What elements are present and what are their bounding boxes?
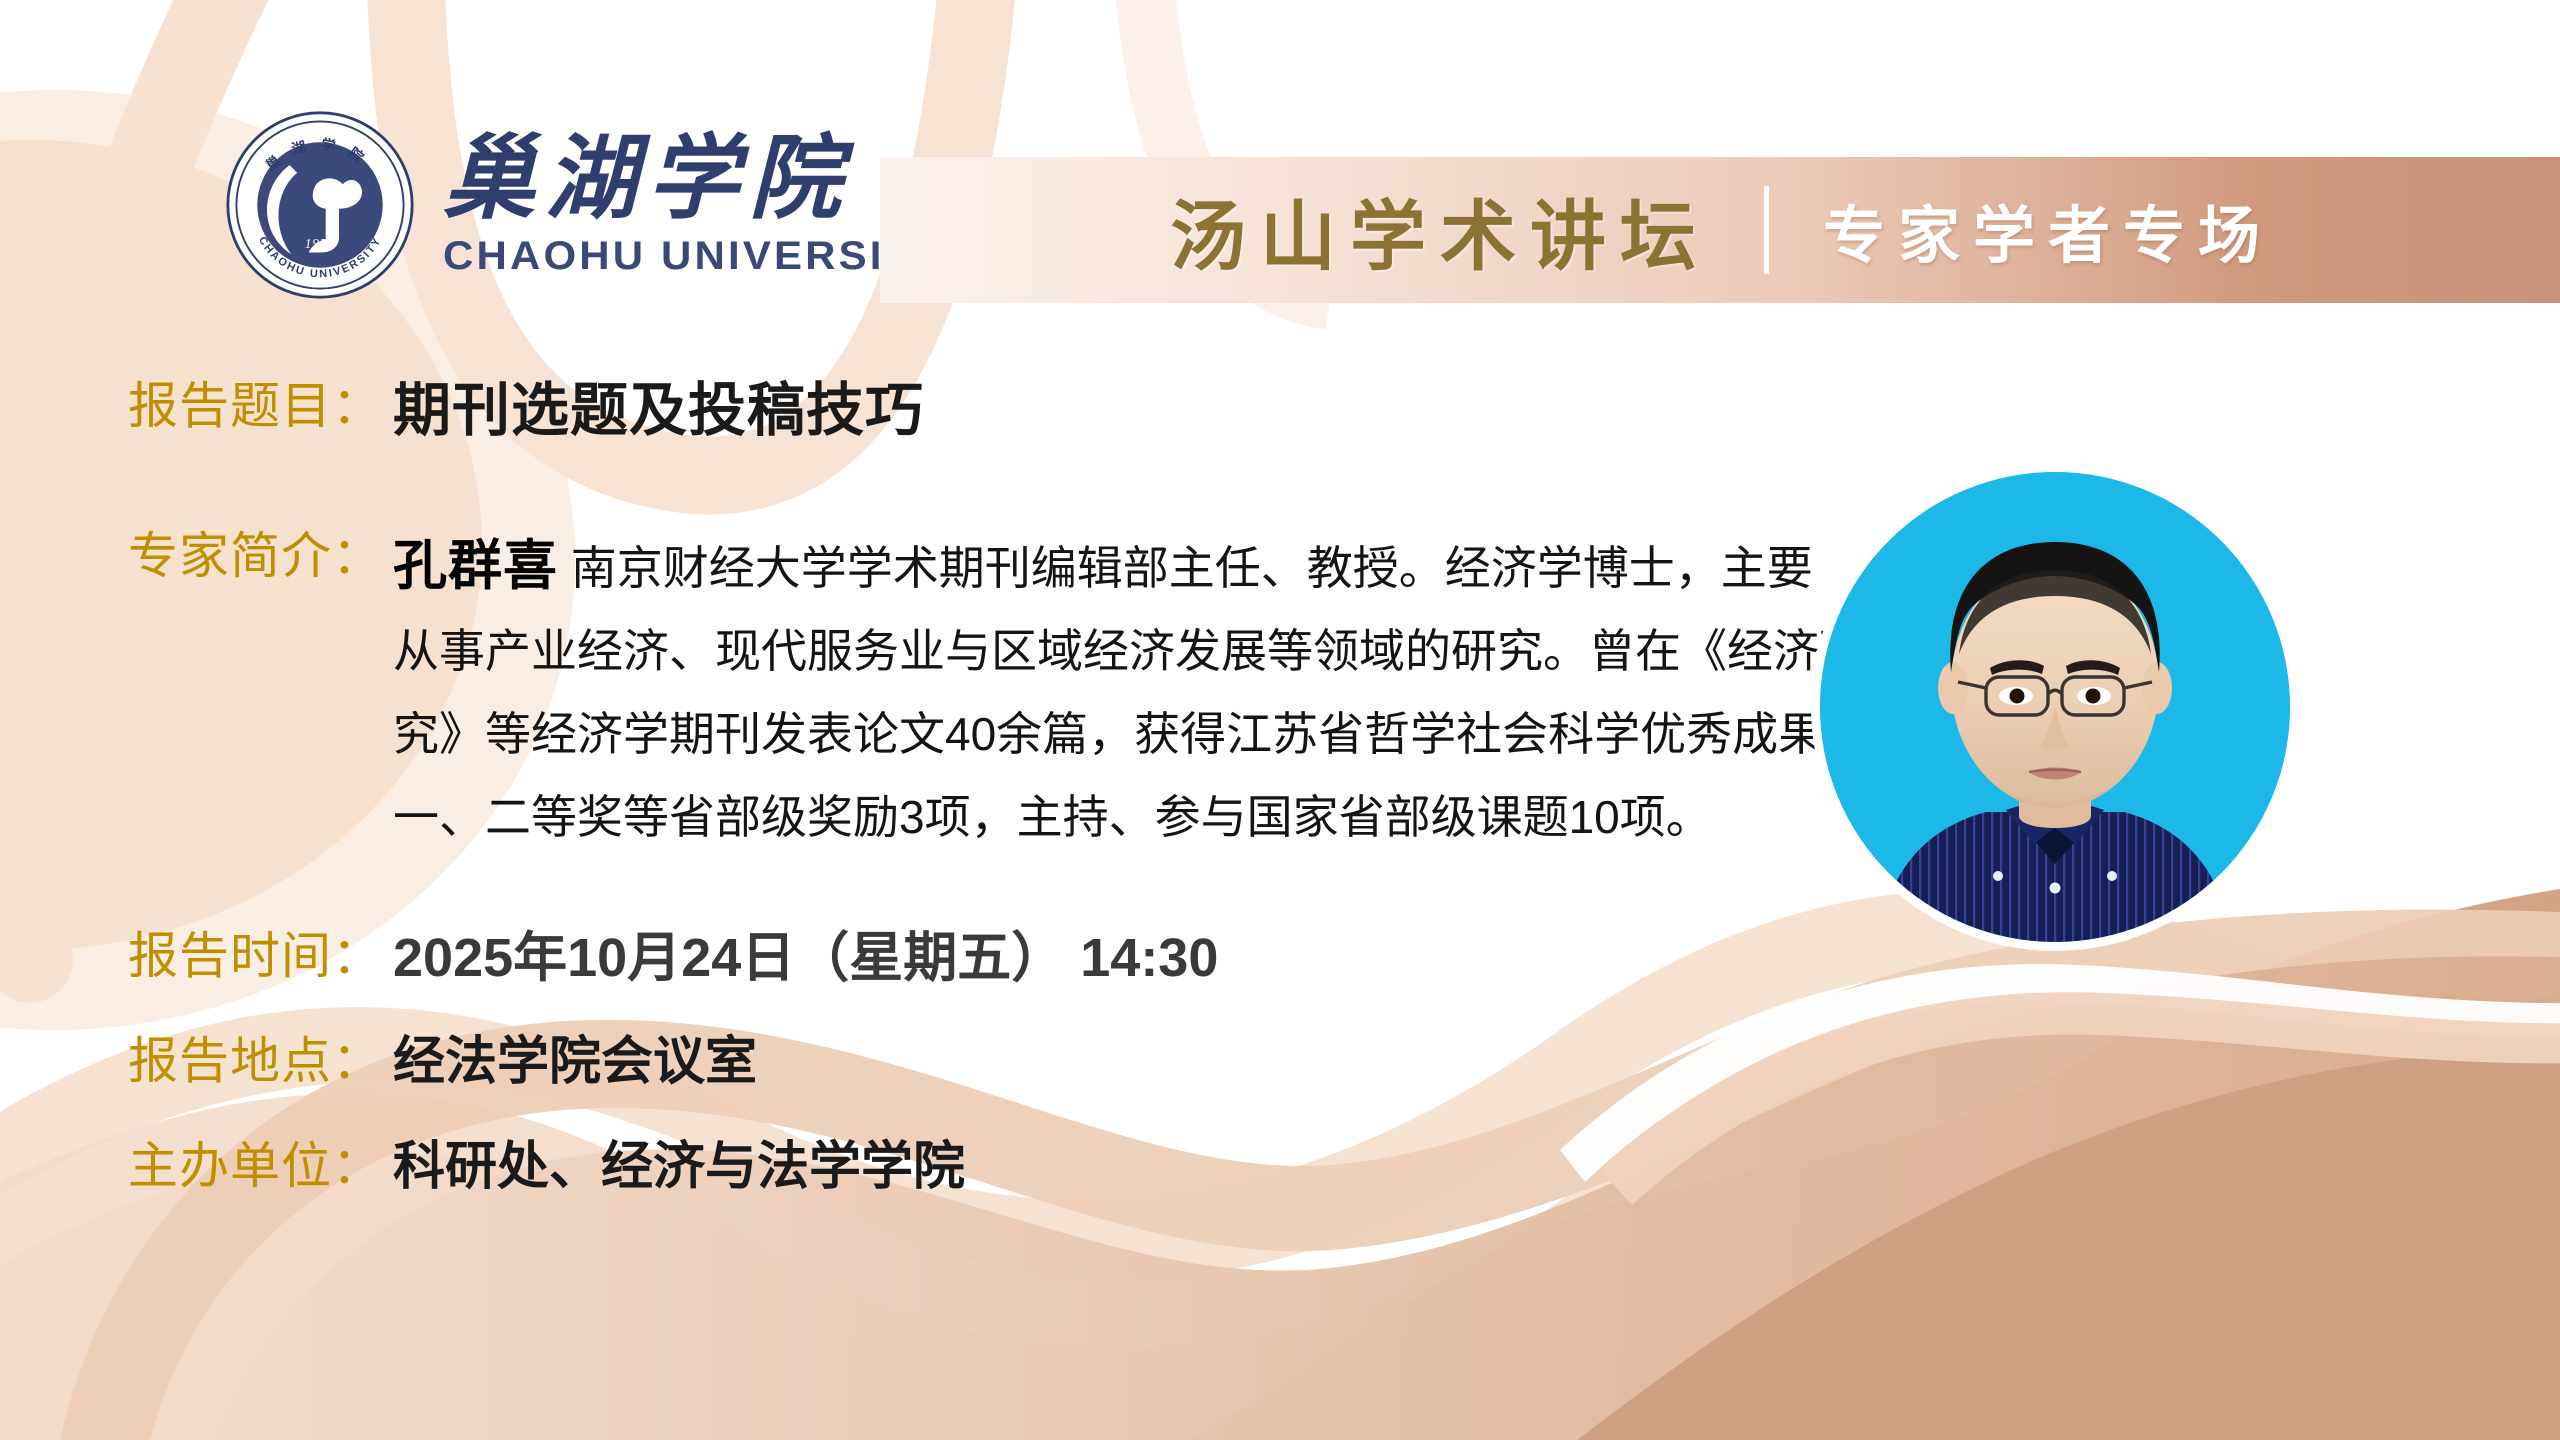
svg-text:1977: 1977 [305,236,336,251]
forum-title: 汤山学术讲坛 [1170,175,1710,285]
report-title-label: 报告题目： [128,375,383,438]
chaohu-university-emblem-icon: 1977 巢湖学院 CHAOHU UNIVERSITY [225,110,415,300]
speaker-portrait [1820,472,2290,942]
speaker-bio-line-3: 究》等经济学期刊发表论文40余篇，获得江苏省哲学社会科学优秀成果 [393,693,1865,776]
forum-banner: 汤山学术讲坛 专家学者专场 [880,157,2560,303]
report-time-row: 报告时间： 2025年10月24日（星期五） 14:30 [128,925,1218,993]
banner-divider [1764,186,1769,274]
report-title-row: 报告题目： 期刊选题及投稿技巧 [128,375,924,448]
university-wordmark: 巢湖学院 CHAOHU UNIVERSITY [443,131,921,279]
report-organizer-row: 主办单位： 科研处、经济与法学学院 [128,1135,965,1200]
report-place-label: 报告地点： [128,1030,383,1093]
forum-subtitle: 专家学者专场 [1823,185,2273,275]
seminar-poster: 1977 巢湖学院 CHAOHU UNIVERSITY 巢湖学院 CHAOHU … [0,0,2560,1440]
speaker-bio-label: 专家简介： [128,525,383,588]
report-organizer-value: 科研处、经济与法学学院 [393,1135,965,1200]
report-time-value: 2025年10月24日（星期五） 14:30 [393,925,1218,993]
speaker-name: 孔群喜 [393,536,558,596]
speaker-bio-line-1: 孔群喜 南京财经大学学术期刊编辑部主任、教授。经济学博士，主要 [393,525,1865,610]
report-organizer-label: 主办单位： [128,1135,383,1198]
report-time-label: 报告时间： [128,925,383,988]
speaker-bio-text-1: 南京财经大学学术期刊编辑部主任、教授。经济学博士，主要 [558,542,1813,594]
report-title-value: 期刊选题及投稿技巧 [393,375,924,448]
poster-header: 1977 巢湖学院 CHAOHU UNIVERSITY 巢湖学院 CHAOHU … [0,0,2560,330]
university-name-cn: 巢湖学院 [443,131,921,228]
speaker-portrait-image [1820,472,2290,942]
report-place-row: 报告地点： 经法学院会议室 [128,1030,757,1095]
university-name-en: CHAOHU UNIVERSITY [443,234,945,279]
speaker-bio-body: 孔群喜 南京财经大学学术期刊编辑部主任、教授。经济学博士，主要 从事产业经济、现… [393,525,1865,859]
speaker-bio-row: 专家简介： 孔群喜 南京财经大学学术期刊编辑部主任、教授。经济学博士，主要 从事… [128,525,1788,859]
university-logo-block: 1977 巢湖学院 CHAOHU UNIVERSITY 巢湖学院 CHAOHU … [225,110,921,300]
speaker-bio-line-2: 从事产业经济、现代服务业与区域经济发展等领域的研究。曾在《经济研 [393,610,1865,693]
speaker-bio-line-4: 一、二等奖等省部级奖励3项，主持、参与国家省部级课题10项。 [393,776,1865,859]
report-place-value: 经法学院会议室 [393,1030,757,1095]
